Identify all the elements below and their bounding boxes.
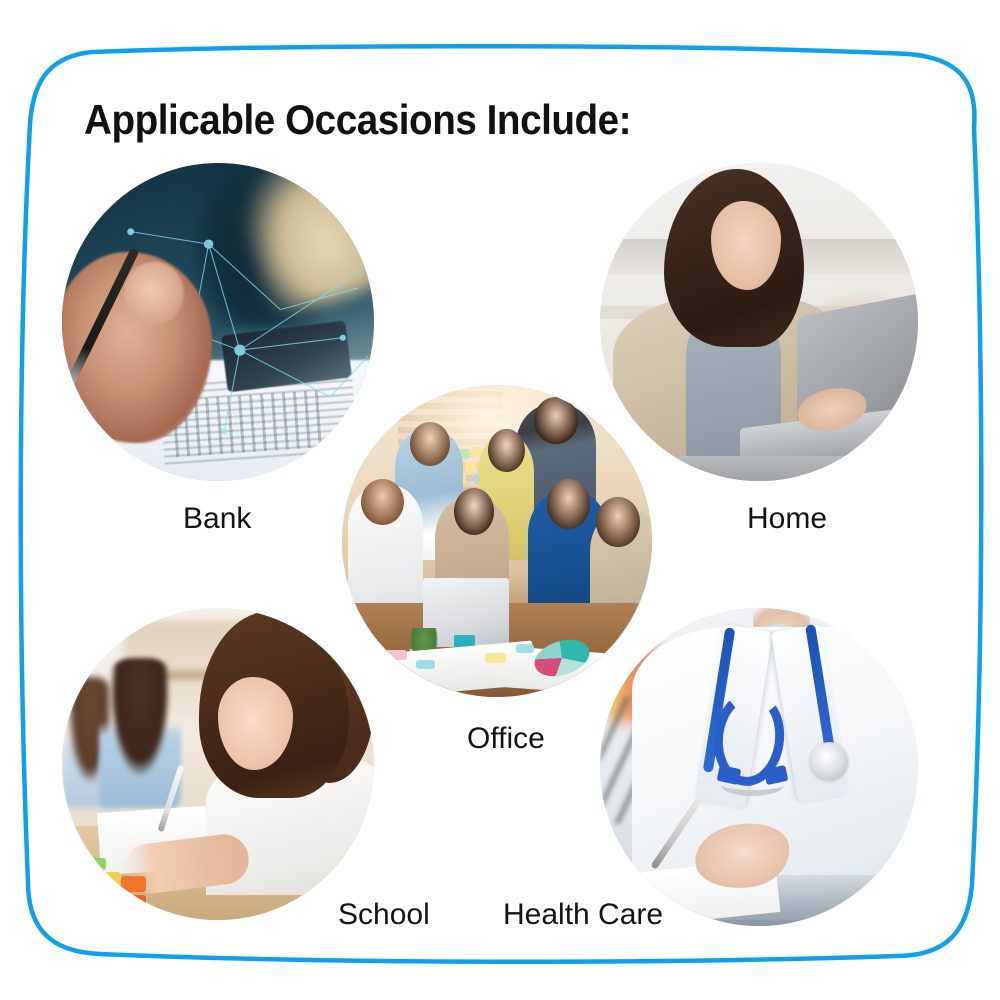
occasion-label-health-care: Health Care <box>503 898 663 932</box>
school-photo <box>62 608 374 920</box>
occasion-label-school: School <box>338 898 430 932</box>
occasion-label-home: Home <box>747 502 827 536</box>
bank-photo <box>62 163 374 481</box>
promo-banner: Applicable Occasions Include: <box>0 0 1000 1000</box>
page-title: Applicable Occasions Include: <box>84 96 631 144</box>
occasion-label-office: Office <box>467 722 545 756</box>
health-care-photo <box>600 608 918 926</box>
occasion-label-bank: Bank <box>183 502 251 536</box>
